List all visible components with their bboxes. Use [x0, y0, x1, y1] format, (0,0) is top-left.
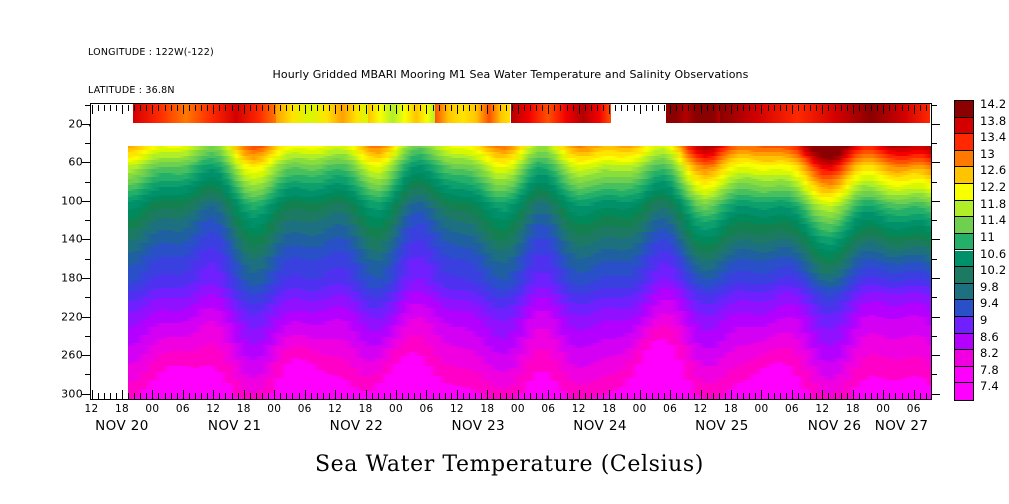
axis-tick-minor — [165, 105, 166, 111]
axis-tick-minor — [931, 374, 937, 375]
axis-tick-minor — [292, 393, 293, 399]
axis-tick-minor — [104, 393, 105, 399]
x-axis-hour-label: 18 — [602, 403, 616, 415]
axis-tick-minor — [634, 105, 635, 111]
x-axis-hour-label: 00 — [633, 403, 647, 415]
axis-tick-minor — [372, 393, 373, 399]
axis-tick-minor — [658, 393, 659, 399]
axis-tick-minor — [786, 105, 787, 111]
plot-canvas — [91, 104, 931, 399]
axis-tick-minor — [341, 393, 342, 399]
axis-tick-minor — [725, 393, 726, 399]
axis-tick-minor — [323, 393, 324, 399]
colorbar-tick-label: 9.8 — [980, 280, 999, 294]
x-axis-hour-label: 18 — [480, 403, 494, 415]
axis-tick-minor — [268, 105, 269, 111]
colorbar-segment — [955, 118, 973, 135]
axis-tick-major — [931, 355, 940, 356]
axis-tick-major — [931, 394, 940, 395]
axis-tick-minor — [262, 393, 263, 399]
axis-tick-minor — [378, 105, 379, 111]
axis-tick-minor — [506, 393, 507, 399]
axis-tick-minor — [195, 105, 196, 111]
axis-tick-minor — [463, 105, 464, 111]
axis-tick-minor — [85, 182, 91, 183]
axis-tick-minor — [920, 105, 921, 111]
axis-tick-minor — [908, 105, 909, 111]
colorbar-segment — [955, 334, 973, 351]
axis-tick-minor — [798, 393, 799, 399]
colorbar-segment — [955, 300, 973, 317]
axis-tick-minor — [889, 393, 890, 399]
axis-tick-major — [122, 105, 123, 114]
colorbar-tick-label: 8.2 — [980, 346, 999, 360]
colorbar-tick-label: 7.4 — [980, 379, 999, 393]
colorbar-tick-label: 8.6 — [980, 330, 999, 344]
axis-tick-minor — [920, 393, 921, 399]
axis-tick-major — [487, 390, 488, 399]
x-axis-hour-label: 06 — [541, 403, 555, 415]
axis-tick-major — [701, 105, 702, 114]
x-axis-hour-label: 00 — [267, 403, 281, 415]
axis-tick-major — [305, 105, 306, 114]
x-axis-hour-label: 00 — [876, 403, 890, 415]
axis-tick-major — [183, 390, 184, 399]
axis-tick-minor — [926, 393, 927, 399]
axis-tick-minor — [931, 336, 937, 337]
axis-tick-minor — [85, 143, 91, 144]
axis-tick-minor — [536, 393, 537, 399]
axis-tick-minor — [865, 105, 866, 111]
y-axis-tick-label: 60 — [45, 156, 83, 169]
axis-tick-minor — [603, 393, 604, 399]
axis-tick-minor — [408, 105, 409, 111]
axis-tick-minor — [634, 393, 635, 399]
colorbar-tick-label: 10.2 — [980, 263, 1006, 277]
axis-tick-major — [883, 105, 884, 114]
axis-tick-minor — [433, 393, 434, 399]
axis-tick-major — [883, 390, 884, 399]
colorbar-segment — [955, 284, 973, 301]
axis-tick-minor — [256, 105, 257, 111]
axis-tick-minor — [737, 393, 738, 399]
axis-tick-major — [396, 105, 397, 114]
colorbar-segment — [955, 251, 973, 268]
axis-tick-minor — [749, 105, 750, 111]
longitude-text: LONGITUDE : 122W(-122) — [88, 47, 214, 60]
axis-tick-minor — [786, 393, 787, 399]
axis-tick-major — [931, 124, 940, 125]
axis-tick-minor — [780, 393, 781, 399]
axis-tick-minor — [725, 105, 726, 111]
axis-tick-major — [82, 355, 91, 356]
axis-tick-minor — [828, 105, 829, 111]
colorbar-segment — [955, 167, 973, 184]
axis-tick-minor — [171, 393, 172, 399]
axis-tick-major — [761, 390, 762, 399]
axis-tick-major — [792, 390, 793, 399]
axis-tick-major — [396, 390, 397, 399]
axis-tick-minor — [810, 105, 811, 111]
axis-tick-minor — [743, 105, 744, 111]
axis-tick-minor — [445, 105, 446, 111]
axis-tick-minor — [719, 105, 720, 111]
axis-tick-minor — [134, 105, 135, 111]
x-axis-hour-label: 12 — [85, 403, 99, 415]
axis-tick-major — [761, 105, 762, 114]
axis-tick-minor — [774, 105, 775, 111]
chart-title: Hourly Gridded MBARI Mooring M1 Sea Wate… — [0, 68, 1009, 81]
axis-tick-major — [640, 390, 641, 399]
x-axis-hour-label: 06 — [907, 403, 921, 415]
axis-tick-minor — [408, 393, 409, 399]
axis-tick-minor — [530, 393, 531, 399]
axis-tick-minor — [158, 105, 159, 111]
axis-tick-minor — [201, 105, 202, 111]
axis-tick-minor — [835, 105, 836, 111]
axis-tick-major — [274, 390, 275, 399]
axis-tick-minor — [286, 393, 287, 399]
colorbar-segment — [955, 367, 973, 384]
axis-tick-minor — [177, 105, 178, 111]
axis-tick-major — [931, 278, 940, 279]
axis-tick-minor — [597, 393, 598, 399]
x-axis-day-label: NOV 22 — [330, 418, 384, 434]
axis-tick-minor — [128, 105, 129, 111]
axis-tick-minor — [804, 105, 805, 111]
axis-tick-minor — [98, 393, 99, 399]
axis-tick-minor — [347, 105, 348, 111]
axis-tick-minor — [250, 105, 251, 111]
axis-tick-major — [822, 390, 823, 399]
x-axis-hour-label: 12 — [815, 403, 829, 415]
axis-tick-minor — [931, 143, 937, 144]
axis-tick-minor — [317, 393, 318, 399]
axis-tick-minor — [146, 393, 147, 399]
axis-tick-minor — [451, 105, 452, 111]
axis-tick-minor — [481, 393, 482, 399]
axis-tick-minor — [475, 105, 476, 111]
axis-tick-minor — [871, 393, 872, 399]
colorbar-tick-label: 11.4 — [980, 213, 1006, 227]
axis-tick-minor — [682, 105, 683, 111]
axis-tick-minor — [384, 393, 385, 399]
axis-tick-major — [305, 390, 306, 399]
colorbar-tick-label: 9 — [980, 313, 988, 327]
axis-tick-major — [579, 390, 580, 399]
axis-tick-minor — [847, 105, 848, 111]
colorbar-tick-label: 14.2 — [980, 97, 1006, 111]
axis-tick-minor — [768, 393, 769, 399]
axis-tick-minor — [469, 393, 470, 399]
axis-tick-minor — [359, 105, 360, 111]
axis-tick-minor — [524, 105, 525, 111]
axis-tick-major — [82, 239, 91, 240]
latitude-text: LATITUDE : 36.8N — [88, 85, 214, 98]
axis-tick-major — [731, 390, 732, 399]
axis-tick-minor — [560, 393, 561, 399]
axis-tick-minor — [98, 105, 99, 111]
x-axis-hour-label: 00 — [389, 403, 403, 415]
axis-tick-minor — [865, 393, 866, 399]
axis-tick-minor — [871, 105, 872, 111]
axis-tick-minor — [749, 393, 750, 399]
axis-tick-minor — [743, 393, 744, 399]
axis-tick-minor — [542, 393, 543, 399]
axis-tick-minor — [908, 393, 909, 399]
axis-tick-minor — [828, 393, 829, 399]
axis-tick-major — [609, 105, 610, 114]
axis-tick-major — [366, 105, 367, 114]
axis-tick-minor — [353, 393, 354, 399]
colorbar-tick-label: 12.6 — [980, 163, 1006, 177]
axis-tick-minor — [931, 297, 937, 298]
axis-tick-minor — [201, 393, 202, 399]
axis-tick-minor — [688, 393, 689, 399]
axis-tick-minor — [451, 393, 452, 399]
plot-bottom-title: Sea Water Temperature (Celsius) — [0, 452, 1009, 477]
axis-tick-minor — [420, 105, 421, 111]
axis-tick-minor — [402, 105, 403, 111]
axis-tick-minor — [931, 182, 937, 183]
axis-tick-minor — [713, 105, 714, 111]
axis-tick-minor — [719, 393, 720, 399]
axis-tick-major — [82, 124, 91, 125]
axis-tick-major — [487, 105, 488, 114]
axis-tick-minor — [810, 393, 811, 399]
axis-tick-major — [213, 390, 214, 399]
axis-tick-minor — [627, 393, 628, 399]
colorbar-segment — [955, 350, 973, 367]
x-axis-day-label: NOV 24 — [573, 418, 627, 434]
axis-tick-minor — [219, 105, 220, 111]
colorbar-tick-label: 9.4 — [980, 296, 999, 310]
axis-tick-minor — [567, 105, 568, 111]
colorbar-segment — [955, 184, 973, 201]
colorbar-tick-label: 11.8 — [980, 197, 1006, 211]
axis-tick-major — [822, 105, 823, 114]
axis-tick-minor — [804, 393, 805, 399]
axis-tick-minor — [262, 105, 263, 111]
axis-tick-minor — [414, 393, 415, 399]
axis-tick-minor — [280, 393, 281, 399]
axis-tick-minor — [542, 105, 543, 111]
axis-tick-minor — [341, 105, 342, 111]
axis-tick-minor — [841, 393, 842, 399]
axis-tick-minor — [646, 393, 647, 399]
axis-tick-major — [335, 390, 336, 399]
axis-tick-minor — [402, 393, 403, 399]
axis-tick-minor — [646, 105, 647, 111]
y-axis-tick-label: 180 — [45, 272, 83, 285]
axis-tick-minor — [158, 393, 159, 399]
axis-tick-major — [931, 201, 940, 202]
axis-tick-minor — [207, 105, 208, 111]
temperature-contour-field — [128, 146, 931, 399]
axis-tick-minor — [268, 393, 269, 399]
axis-tick-major — [609, 390, 610, 399]
axis-tick-minor — [323, 105, 324, 111]
axis-tick-minor — [816, 393, 817, 399]
axis-tick-minor — [189, 393, 190, 399]
axis-tick-minor — [378, 393, 379, 399]
axis-tick-minor — [85, 259, 91, 260]
colorbar-tick-label: 12.2 — [980, 180, 1006, 194]
axis-tick-minor — [798, 105, 799, 111]
axis-tick-minor — [707, 105, 708, 111]
axis-tick-minor — [877, 393, 878, 399]
colorbar-tick-label: 11 — [980, 230, 995, 244]
axis-tick-major — [670, 105, 671, 114]
axis-tick-minor — [195, 393, 196, 399]
axis-tick-minor — [128, 393, 129, 399]
axis-tick-minor — [475, 393, 476, 399]
axis-tick-minor — [694, 105, 695, 111]
axis-tick-minor — [780, 105, 781, 111]
axis-tick-major — [82, 162, 91, 163]
axis-tick-major — [548, 105, 549, 114]
axis-tick-minor — [146, 105, 147, 111]
axis-tick-minor — [85, 105, 91, 106]
colorbar-segment — [955, 317, 973, 334]
axis-tick-major — [426, 390, 427, 399]
colorbar-tick-label: 10.6 — [980, 247, 1006, 261]
axis-tick-minor — [931, 220, 937, 221]
x-axis-hour-label: 18 — [237, 403, 251, 415]
axis-tick-major — [914, 105, 915, 114]
axis-tick-minor — [585, 393, 586, 399]
colorbar-tick-label: 13 — [980, 147, 995, 161]
x-axis-hour-label: 12 — [572, 403, 586, 415]
axis-tick-minor — [615, 393, 616, 399]
axis-tick-minor — [493, 105, 494, 111]
axis-tick-minor — [116, 105, 117, 111]
axis-tick-minor — [134, 393, 135, 399]
axis-tick-minor — [493, 393, 494, 399]
axis-tick-major — [82, 201, 91, 202]
axis-tick-minor — [390, 105, 391, 111]
x-axis-hour-label: 12 — [328, 403, 342, 415]
axis-tick-minor — [469, 105, 470, 111]
axis-tick-minor — [688, 105, 689, 111]
axis-tick-minor — [889, 105, 890, 111]
colorbar-segment — [955, 267, 973, 284]
axis-tick-minor — [353, 105, 354, 111]
x-axis-hour-label: 12 — [206, 403, 220, 415]
axis-tick-minor — [713, 393, 714, 399]
axis-tick-minor — [250, 393, 251, 399]
axis-tick-minor — [189, 105, 190, 111]
axis-tick-major — [82, 278, 91, 279]
axis-tick-minor — [573, 393, 574, 399]
axis-tick-minor — [682, 393, 683, 399]
axis-tick-minor — [110, 393, 111, 399]
x-axis-hour-label: 06 — [420, 403, 434, 415]
axis-tick-major — [335, 105, 336, 114]
axis-tick-major — [931, 162, 940, 163]
axis-tick-minor — [317, 105, 318, 111]
axis-tick-minor — [439, 105, 440, 111]
axis-tick-minor — [676, 393, 677, 399]
x-axis-hour-label: 06 — [785, 403, 799, 415]
axis-tick-minor — [707, 393, 708, 399]
axis-tick-major — [640, 105, 641, 114]
x-axis-hour-label: 06 — [298, 403, 312, 415]
axis-tick-minor — [232, 393, 233, 399]
axis-tick-minor — [931, 105, 937, 106]
axis-tick-minor — [847, 393, 848, 399]
y-axis-tick-label: 260 — [45, 349, 83, 362]
axis-tick-minor — [347, 393, 348, 399]
y-axis-tick-label: 300 — [45, 387, 83, 400]
x-axis-hour-label: 12 — [450, 403, 464, 415]
x-axis-hour-label: 18 — [359, 403, 373, 415]
axis-tick-minor — [292, 105, 293, 111]
axis-tick-minor — [768, 105, 769, 111]
axis-tick-major — [548, 390, 549, 399]
x-axis-hour-label: 18 — [846, 403, 860, 415]
colorbar-segment — [955, 234, 973, 251]
axis-tick-major — [244, 390, 245, 399]
axis-tick-minor — [621, 105, 622, 111]
axis-tick-major — [457, 390, 458, 399]
axis-tick-minor — [652, 393, 653, 399]
x-axis-hour-label: 18 — [115, 403, 129, 415]
axis-tick-minor — [372, 105, 373, 111]
axis-tick-minor — [554, 105, 555, 111]
axis-tick-minor — [737, 105, 738, 111]
axis-tick-minor — [755, 393, 756, 399]
axis-tick-major — [274, 105, 275, 114]
axis-tick-major — [92, 390, 93, 399]
colorbar-segment — [955, 217, 973, 234]
axis-tick-minor — [841, 105, 842, 111]
axis-tick-minor — [530, 105, 531, 111]
axis-tick-minor — [615, 105, 616, 111]
axis-tick-minor — [414, 105, 415, 111]
axis-tick-minor — [500, 105, 501, 111]
axis-tick-minor — [177, 393, 178, 399]
x-axis-hour-label: 00 — [145, 403, 159, 415]
x-axis-day-label: NOV 21 — [208, 418, 262, 434]
y-axis-tick-label: 100 — [45, 194, 83, 207]
axis-tick-minor — [280, 105, 281, 111]
x-axis-day-label: NOV 23 — [451, 418, 505, 434]
axis-tick-minor — [104, 105, 105, 111]
axis-tick-major — [579, 105, 580, 114]
axis-tick-minor — [286, 105, 287, 111]
x-axis-hour-label: 06 — [176, 403, 190, 415]
axis-tick-major — [931, 239, 940, 240]
axis-tick-minor — [384, 105, 385, 111]
axis-tick-minor — [390, 393, 391, 399]
axis-tick-major — [366, 390, 367, 399]
x-axis-day-label: NOV 25 — [695, 418, 749, 434]
colorbar-segment — [955, 101, 973, 118]
axis-tick-minor — [816, 105, 817, 111]
x-axis-day-label: NOV 26 — [808, 418, 862, 434]
axis-tick-minor — [110, 105, 111, 111]
axis-tick-minor — [329, 393, 330, 399]
axis-tick-minor — [140, 393, 141, 399]
axis-tick-minor — [311, 105, 312, 111]
axis-tick-minor — [902, 105, 903, 111]
x-axis-day-label: NOV 20 — [95, 418, 149, 434]
axis-tick-minor — [329, 105, 330, 111]
axis-tick-major — [92, 105, 93, 114]
axis-tick-minor — [85, 220, 91, 221]
axis-tick-minor — [445, 393, 446, 399]
